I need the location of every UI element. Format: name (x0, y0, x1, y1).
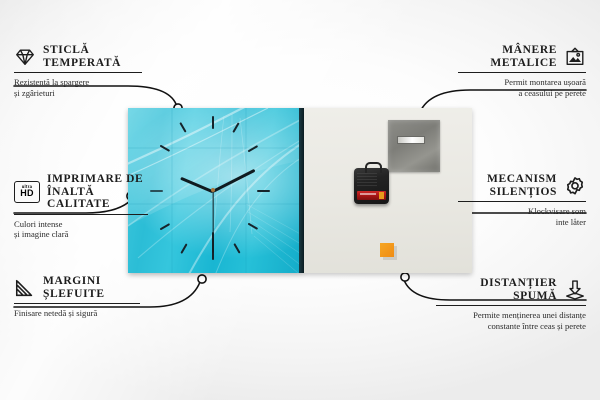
clock-mechanism (354, 168, 389, 204)
callout-subtitle-line2: a ceasului pe perete (458, 88, 586, 98)
callout-subtitle-line1: Permit montarea ușoară (458, 77, 586, 87)
picture-frame-hanger-icon (564, 46, 586, 68)
callout-divider (14, 303, 140, 304)
gear-icon (564, 175, 586, 197)
second-hand (212, 191, 213, 253)
callout-title-line1: MECANISM (487, 173, 557, 186)
callout-divider (436, 305, 586, 306)
infographic-canvas: STICLĂ TEMPERATĂ Rezistentă la spargere … (0, 0, 600, 400)
callout-title-line1: MARGINI (43, 275, 105, 288)
callout-header: STICLĂ TEMPERATĂ (14, 44, 142, 69)
callout-header: MARGINI ȘLEFUITE (14, 275, 140, 300)
callout-header: MECANISM SILENȚIOS (458, 173, 586, 198)
callout-header: ultra HD IMPRIMARE DE ÎNALTĂ CALITATE (14, 173, 148, 211)
callout-foam-spacer: DISTANȚIER SPUMĂ Permite menținerea unei… (436, 277, 586, 331)
callout-header: MÂNERE METALICE (458, 44, 586, 69)
product-image (128, 108, 472, 273)
callout-divider (14, 214, 148, 215)
battery-label (360, 193, 376, 195)
mechanism-texture (357, 173, 377, 187)
callout-title-line2: ÎNALTĂ CALITATE (47, 186, 148, 211)
callout-subtitle-line2: constante între ceas și perete (436, 321, 586, 331)
callout-silent-mechanism: MECANISM SILENȚIOS Klockvisare som inte … (458, 173, 586, 227)
callout-subtitle-line2: și zgârieturi (14, 88, 142, 98)
callout-high-quality-print: ultra HD IMPRIMARE DE ÎNALTĂ CALITATE Cu… (14, 173, 148, 240)
down-arrow-layer-icon (564, 279, 586, 301)
callout-title-line1: STICLĂ (43, 44, 121, 57)
ultra-hd-icon-main: HD (20, 189, 33, 198)
callout-title-line2: SPUMĂ (480, 290, 557, 303)
foam-spacer (380, 243, 394, 257)
callout-subtitle-line2: inte låter (458, 217, 586, 227)
ultra-hd-icon: ultra HD (14, 181, 40, 203)
callout-subtitle-line1: Culori intense (14, 219, 148, 229)
callout-polished-edges: MARGINI ȘLEFUITE Finisare netedă și sigu… (14, 275, 140, 319)
callout-subtitle-line2: și imagine clară (14, 229, 148, 239)
callout-header: DISTANȚIER SPUMĂ (436, 277, 586, 302)
callout-title-line1: DISTANȚIER (480, 277, 557, 290)
clock-back-panel (304, 108, 472, 273)
diamond-icon (14, 46, 36, 68)
battery (357, 191, 386, 200)
callout-title-line2: METALICE (490, 57, 557, 70)
callout-subtitle-line1: Rezistentă la spargere (14, 77, 142, 87)
mechanism-hook (365, 162, 382, 173)
metal-hanger-plate (388, 120, 440, 172)
callout-subtitle-line1: Finisare netedă și sigură (14, 308, 140, 318)
callout-subtitle-line1: Permite menținerea unei distanțe (436, 310, 586, 320)
callout-title-line1: IMPRIMARE DE (47, 173, 148, 186)
callout-title-line1: MÂNERE (490, 44, 557, 57)
callout-tempered-glass: STICLĂ TEMPERATĂ Rezistentă la spargere … (14, 44, 142, 98)
battery-plus-terminal (379, 192, 384, 199)
diagonal-lines-icon (14, 277, 36, 299)
center-pin (211, 188, 215, 192)
callout-subtitle-line1: Klockvisare som (458, 206, 586, 216)
hanger-slot (397, 136, 425, 144)
callout-divider (458, 201, 586, 202)
callout-title-line2: ȘLEFUITE (43, 288, 105, 301)
callout-title-line2: TEMPERATĂ (43, 57, 121, 70)
callout-title-line2: SILENȚIOS (487, 186, 557, 199)
callout-metal-handles: MÂNERE METALICE Permit montarea ușoară a… (458, 44, 586, 98)
callout-divider (458, 72, 586, 73)
callout-divider (14, 72, 142, 73)
clock-face-panel (128, 108, 304, 273)
